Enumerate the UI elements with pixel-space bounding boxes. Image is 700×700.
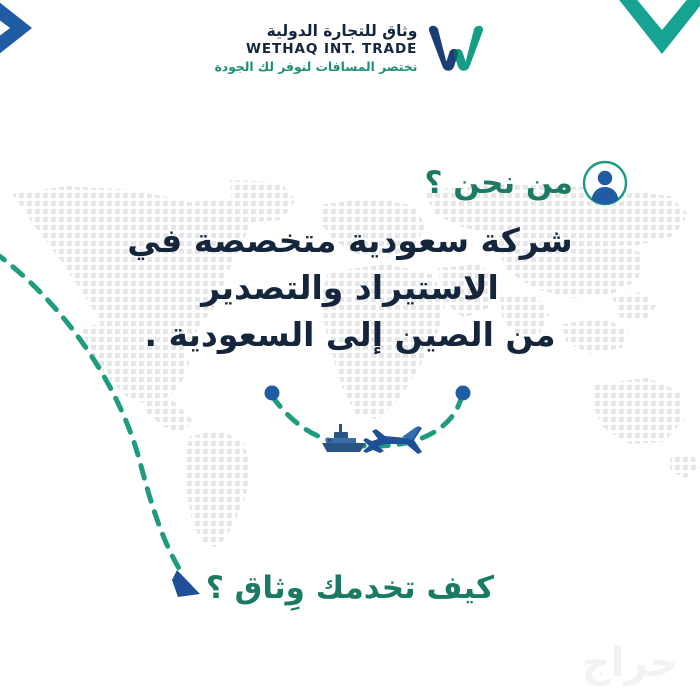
body-paragraph: شركة سعودية متخصصة في الاستيراد والتصدير… <box>60 218 640 359</box>
logo-text-group: وثاق للتجارة الدولية WETHAQ INT. TRADE ن… <box>215 24 418 73</box>
person-avatar-icon <box>582 160 628 206</box>
logo-arabic-name: وثاق للتجارة الدولية <box>267 24 418 40</box>
brand-logo: وثاق للتجارة الدولية WETHAQ INT. TRADE ن… <box>0 20 700 78</box>
poster-canvas: وثاق للتجارة الدولية WETHAQ INT. TRADE ن… <box>0 0 700 700</box>
bottom-question-text: كيف تخدمك وِثاق ؟ <box>0 570 700 606</box>
headline-text: من نحن ؟ <box>424 165 573 201</box>
wethaq-w-monogram-icon <box>427 20 485 78</box>
logo-english-name: WETHAQ INT. TRADE <box>246 43 417 57</box>
headline-row: من نحن ؟ <box>424 160 628 206</box>
haraj-watermark: حراج <box>582 640 678 686</box>
logo-tagline: نختصر المسافات لنوفر لك الجودة <box>215 61 418 74</box>
